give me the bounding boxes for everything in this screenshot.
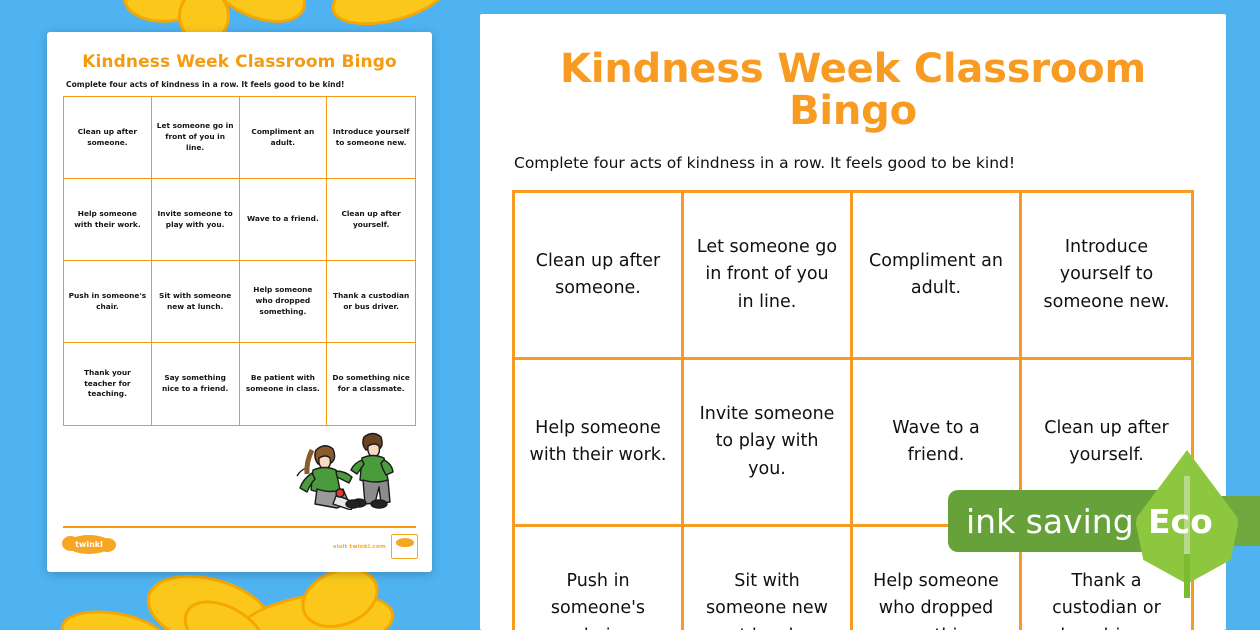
bingo-cell: Thank your teacher for teaching.	[64, 343, 152, 425]
bingo-cell: Introduce yourself to someone new.	[1022, 193, 1191, 360]
visit-url-text: visit twinkl.com	[333, 544, 386, 550]
ink-saving-label: ink saving	[966, 500, 1134, 544]
thumbnail-bingo-grid: Clean up after someone.Let someone go in…	[63, 96, 416, 426]
bingo-cell: Introduce yourself to someone new.	[327, 97, 415, 179]
bingo-cell: Push in someone's chair.	[515, 527, 684, 630]
decorative-blob	[325, 0, 454, 36]
twinkl-logo-text: twinkl	[75, 540, 103, 549]
bingo-cell: Do something nice for a classmate.	[327, 343, 415, 425]
bingo-cell: Help someone who dropped something.	[240, 261, 328, 343]
bingo-cell: Let someone go in front of you in line.	[152, 97, 240, 179]
bingo-cell: Sit with someone new at lunch.	[152, 261, 240, 343]
bingo-cell: Invite someone to play with you.	[152, 179, 240, 261]
preview-frame: Kindness Week Classroom Bingo Complete f…	[466, 0, 1260, 630]
bingo-cell: Clean up after someone.	[64, 97, 152, 179]
bingo-cell: Say something nice to a friend.	[152, 343, 240, 425]
bingo-cell: Push in someone's chair.	[64, 261, 152, 343]
bingo-cell: Help someone with their work.	[64, 179, 152, 261]
bingo-cell: Help someone with their work.	[515, 360, 684, 527]
thumbnail-footer-divider	[63, 526, 416, 528]
thumbnail-subtitle: Complete four acts of kindness in a row.…	[66, 80, 416, 89]
bingo-cell: Sit with someone new at lunch.	[684, 527, 853, 630]
twinkl-logo: twinkl	[67, 535, 111, 554]
children-illustration	[286, 424, 404, 510]
eco-label: Eco	[1148, 500, 1213, 544]
bingo-cell: Clean up after yourself.	[327, 179, 415, 261]
bingo-cell: Invite someone to play with you.	[684, 360, 853, 527]
ink-saving-eco-badge: ink saving Eco	[940, 450, 1260, 600]
bingo-cell: Compliment an adult.	[853, 193, 1022, 360]
bingo-cell: Wave to a friend.	[240, 179, 328, 261]
bingo-cell: Clean up after someone.	[515, 193, 684, 360]
page-title: Kindness Week Classroom Bingo	[512, 48, 1194, 132]
twinkl-stamp-icon	[391, 534, 418, 559]
bingo-cell: Let someone go in front of you in line.	[684, 193, 853, 360]
thumbnail-title: Kindness Week Classroom Bingo	[63, 52, 416, 72]
bingo-cell: Thank a custodian or bus driver.	[327, 261, 415, 343]
bingo-cell: Be patient with someone in class.	[240, 343, 328, 425]
bingo-cell: Compliment an adult.	[240, 97, 328, 179]
page-subtitle: Complete four acts of kindness in a row.…	[514, 154, 1194, 172]
resource-thumbnail[interactable]: Kindness Week Classroom Bingo Complete f…	[47, 32, 432, 572]
